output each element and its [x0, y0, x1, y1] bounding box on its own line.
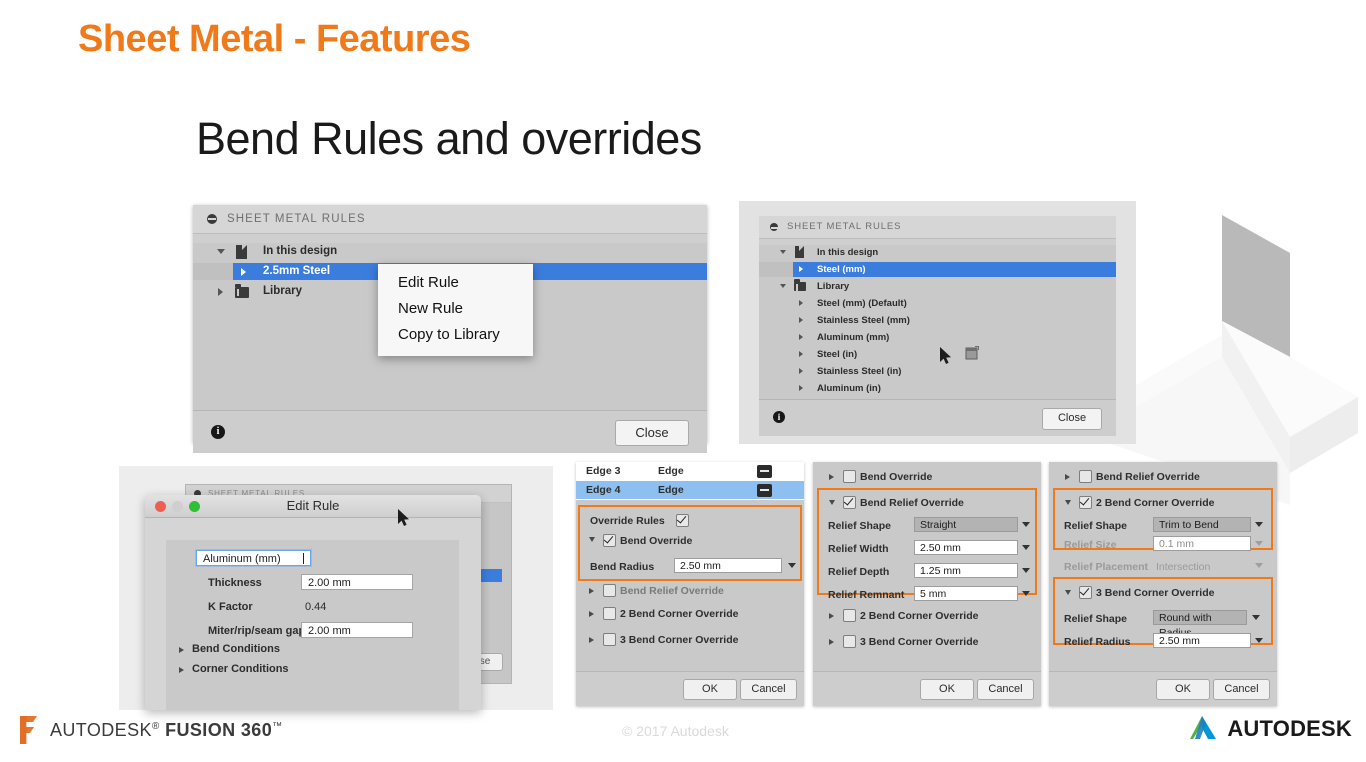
relief-shape-label: Relief Shape — [1064, 520, 1127, 532]
chevron-right-icon[interactable] — [589, 637, 594, 643]
chevron-down-icon[interactable] — [1065, 500, 1071, 505]
ok-button[interactable]: OK — [1156, 679, 1210, 700]
window-menu-icon — [207, 214, 217, 224]
panel-corner-overrides[interactable]: Bend Relief Override 2 Bend Corner Overr… — [1049, 462, 1277, 706]
relief-shape-select[interactable]: Trim to Bend — [1153, 517, 1251, 532]
tree-item-steel-in[interactable]: Steel (in) — [759, 347, 1116, 362]
bend-radius-label: Bend Radius — [590, 561, 654, 573]
tree-label: Stainless Steel (mm) — [817, 315, 910, 326]
traffic-light-close[interactable] — [155, 501, 166, 512]
chevron-right-icon[interactable] — [799, 368, 803, 374]
chevron-right-icon[interactable] — [218, 288, 223, 296]
tree-item-steel-mm-default[interactable]: Steel (mm) (Default) — [759, 296, 1116, 311]
two-bend-corner-override-checkbox[interactable] — [1079, 496, 1092, 509]
dialog-1-title: SHEET METAL RULES — [227, 213, 366, 225]
chevron-down-icon[interactable] — [780, 284, 786, 288]
chevron-right-icon[interactable] — [589, 611, 594, 617]
edge-name: Edge 3 — [586, 465, 620, 477]
cancel-button[interactable]: Cancel — [1213, 679, 1270, 700]
tree-item-library[interactable]: Library — [759, 279, 1116, 294]
bend-relief-override-label[interactable]: Bend Relief Override — [620, 585, 724, 597]
tree-label: Aluminum (in) — [817, 383, 881, 394]
document-icon — [795, 246, 804, 258]
dialog-2-body: In this design Steel (mm) Library Steel … — [759, 245, 1116, 399]
chevron-right-icon[interactable] — [1065, 474, 1070, 480]
tree-label: In this design — [817, 247, 878, 258]
bend-override-checkbox[interactable] — [843, 470, 856, 483]
bend-relief-override-checkbox[interactable] — [603, 584, 616, 597]
tree-item-in-this-design[interactable]: In this design — [759, 245, 1116, 260]
tree-item-steel-mm[interactable]: Steel (mm) — [759, 262, 1116, 277]
two-bend-corner-override-checkbox[interactable] — [603, 607, 616, 620]
three-bend-corner-override-label[interactable]: 3 Bend Corner Override — [860, 636, 978, 648]
dropdown-arrow-icon[interactable] — [1255, 638, 1263, 643]
edge-type: Edge — [658, 484, 684, 496]
chevron-down-icon[interactable] — [1065, 590, 1071, 595]
relief-remnant-label: Relief Remnant — [828, 589, 904, 601]
tree-label: Steel (mm) — [817, 264, 866, 275]
k-factor-label: K Factor — [208, 601, 253, 613]
three-bend-corner-override-label[interactable]: 3 Bend Corner Override — [620, 634, 738, 646]
fusion-f-icon — [18, 716, 41, 744]
chevron-down-icon[interactable] — [780, 250, 786, 254]
bend-relief-override-label[interactable]: Bend Relief Override — [1096, 471, 1200, 483]
menu-item-new-rule[interactable]: New Rule — [378, 296, 533, 322]
three-bend-corner-override-checkbox[interactable] — [1079, 586, 1092, 599]
info-icon[interactable]: i — [773, 411, 785, 423]
sheet-metal-rules-dialog-2[interactable]: SHEET METAL RULES In this design Steel (… — [759, 216, 1116, 428]
dropdown-arrow-icon[interactable] — [1255, 541, 1263, 546]
chevron-right-icon[interactable] — [829, 639, 834, 645]
info-icon[interactable]: i — [211, 425, 225, 439]
panel-b-body: Bend Override Bend Relief Override Relie… — [813, 462, 1041, 672]
three-bend-corner-override-checkbox[interactable] — [843, 635, 856, 648]
bend-conditions-section[interactable]: Bend Conditions — [192, 643, 280, 655]
slide-footer: AUTODESK® FUSION 360™ © 2017 Autodesk AU… — [0, 702, 1366, 762]
mouse-cursor-icon — [939, 347, 953, 365]
context-menu[interactable]: Edit Rule New Rule Copy to Library — [378, 264, 533, 356]
mouse-cursor-icon — [397, 509, 411, 527]
tree-label: Steel (in) — [817, 349, 857, 360]
chevron-right-icon[interactable] — [799, 351, 803, 357]
edit-rule-body: Aluminum (mm) Thickness 2.00 mm K Factor… — [166, 540, 459, 710]
dialog-2-titlebar: SHEET METAL RULES — [759, 216, 1116, 239]
edit-rule-titlebar: Edit Rule — [145, 495, 481, 518]
dropdown-arrow-icon[interactable] — [1252, 615, 1260, 620]
override-rules-label: Override Rules — [590, 515, 665, 527]
bend-relief-override-checkbox[interactable] — [843, 496, 856, 509]
folder-icon — [794, 282, 806, 291]
window-menu-icon — [770, 223, 778, 231]
relief-shape-select[interactable]: Straight — [914, 517, 1018, 532]
tree-label: In this design — [263, 245, 337, 257]
edit-rule-title: Edit Rule — [287, 498, 340, 513]
ok-button[interactable]: OK — [920, 679, 974, 700]
chevron-right-icon[interactable] — [241, 268, 246, 276]
fusion-360-logo: AUTODESK® FUSION 360™ — [18, 716, 283, 744]
traffic-light-minimize[interactable] — [172, 501, 183, 512]
edge-name: Edge 4 — [586, 484, 620, 496]
remove-edge-icon[interactable] — [757, 465, 772, 478]
relief-remnant-input[interactable]: 5 mm — [914, 586, 1018, 601]
bend-relief-override-checkbox[interactable] — [1079, 470, 1092, 483]
chevron-right-icon[interactable] — [799, 317, 803, 323]
chevron-right-icon[interactable] — [179, 667, 184, 673]
bend-radius-input[interactable]: 2.50 mm — [674, 558, 782, 573]
slide-title: Sheet Metal - Features — [78, 18, 470, 61]
dialog-1-footer: i Close — [193, 410, 707, 453]
chevron-right-icon[interactable] — [799, 266, 803, 272]
row-gutter — [759, 262, 793, 277]
relief-width-input[interactable]: 2.50 mm — [914, 540, 1018, 555]
k-factor-value: 0.44 — [305, 601, 326, 613]
autodesk-logo: AUTODESK — [1189, 715, 1352, 742]
override-rules-checkbox[interactable] — [676, 514, 689, 527]
bend-override-label[interactable]: Bend Override — [620, 535, 692, 547]
relief-placement-value: Intersection — [1156, 561, 1210, 573]
tree-item-stainless-steel-mm[interactable]: Stainless Steel (mm) — [759, 313, 1116, 328]
menu-item-copy-to-library[interactable]: Copy to Library — [378, 322, 533, 348]
miter-rip-seam-gap-label: Miter/rip/seam gap — [208, 625, 305, 637]
copy-rule-icon[interactable] — [965, 345, 981, 361]
document-icon — [236, 245, 247, 259]
thickness-label: Thickness — [208, 577, 262, 589]
tree-label: Library — [817, 281, 849, 292]
relief-shape-label-3: Relief Shape — [1064, 613, 1127, 625]
fusion-word: FUSION 360 — [165, 720, 272, 740]
edge-type: Edge — [658, 465, 684, 477]
chevron-right-icon[interactable] — [799, 385, 803, 391]
traffic-light-zoom[interactable] — [189, 501, 200, 512]
two-bend-corner-override-checkbox[interactable] — [843, 609, 856, 622]
relief-placement-label: Relief Placement — [1064, 561, 1148, 573]
tree-label: 2.5mm Steel — [263, 265, 330, 277]
dropdown-arrow-icon[interactable] — [788, 563, 796, 568]
miter-rip-seam-gap-input[interactable]: 2.00 mm — [301, 622, 413, 638]
relief-depth-label: Relief Depth — [828, 566, 889, 578]
tree-item-stainless-steel-in[interactable]: Stainless Steel (in) — [759, 364, 1116, 379]
menu-item-edit-rule[interactable]: Edit Rule — [378, 270, 533, 296]
panel-bend-relief-override[interactable]: Bend Override Bend Relief Override Relie… — [813, 462, 1041, 706]
two-bend-corner-override-label[interactable]: 2 Bend Corner Override — [1096, 497, 1214, 509]
dialog-1-titlebar: SHEET METAL RULES — [193, 205, 707, 234]
chevron-down-icon[interactable] — [829, 500, 835, 505]
tree-item-aluminum-in[interactable]: Aluminum (in) — [759, 381, 1116, 396]
panel-c-body: Bend Relief Override 2 Bend Corner Overr… — [1049, 462, 1277, 672]
chevron-right-icon[interactable] — [799, 334, 803, 340]
chevron-right-icon[interactable] — [829, 613, 834, 619]
dialog-2-title: SHEET METAL RULES — [787, 221, 901, 232]
relief-radius-input[interactable]: 2.50 mm — [1153, 633, 1251, 648]
panel-bend-override[interactable]: Edge 3 Edge Edge 4 Edge Override Rules B… — [576, 462, 804, 706]
relief-shape-select-3[interactable]: Round with Radius — [1153, 610, 1247, 625]
bend-relief-override-label[interactable]: Bend Relief Override — [860, 497, 964, 509]
relief-size-input[interactable]: 0.1 mm — [1153, 536, 1251, 551]
row-gutter — [193, 263, 233, 280]
bend-override-checkbox[interactable] — [603, 534, 616, 547]
edge-row-4[interactable]: Edge 4 Edge — [576, 481, 804, 499]
tree-item-aluminum-mm[interactable]: Aluminum (mm) — [759, 330, 1116, 345]
three-bend-corner-override-label[interactable]: 3 Bend Corner Override — [1096, 587, 1214, 599]
chevron-right-icon[interactable] — [799, 300, 803, 306]
chevron-right-icon[interactable] — [829, 474, 834, 480]
dropdown-arrow-icon[interactable] — [1022, 545, 1030, 550]
tree-label: Aluminum (mm) — [817, 332, 889, 343]
close-button-1[interactable]: Close — [615, 420, 689, 446]
relief-radius-label: Relief Radius — [1064, 636, 1131, 648]
fusion-360-wordmark: AUTODESK® FUSION 360™ — [50, 720, 283, 741]
panel-b-footer: OK Cancel — [813, 671, 1041, 706]
chevron-right-icon[interactable] — [589, 588, 594, 594]
relief-shape-label: Relief Shape — [828, 520, 891, 532]
three-bend-corner-override-checkbox[interactable] — [603, 633, 616, 646]
remove-edge-icon[interactable] — [757, 484, 772, 497]
relief-size-label: Relief Size — [1064, 539, 1117, 551]
relief-depth-input[interactable]: 1.25 mm — [914, 563, 1018, 578]
autodesk-word: AUTODESK — [50, 720, 152, 740]
edge-list[interactable]: Edge 3 Edge Edge 4 Edge — [576, 462, 804, 500]
edge-row-3[interactable]: Edge 3 Edge — [576, 462, 804, 480]
dropdown-arrow-icon[interactable] — [1255, 563, 1263, 568]
panel-a-body: Edge 3 Edge Edge 4 Edge Override Rules B… — [576, 462, 804, 672]
slide-subtitle: Bend Rules and overrides — [196, 113, 702, 165]
folder-icon — [235, 287, 249, 298]
copyright-text: © 2017 Autodesk — [622, 723, 729, 739]
thickness-input[interactable]: 2.00 mm — [301, 574, 413, 590]
autodesk-a-icon — [1189, 715, 1219, 742]
bend-override-label[interactable]: Bend Override — [860, 471, 932, 483]
panel-c-footer: OK Cancel — [1049, 671, 1277, 706]
tree-label: Library — [263, 285, 302, 297]
two-bend-corner-override-label[interactable]: 2 Bend Corner Override — [860, 610, 978, 622]
dropdown-arrow-icon[interactable] — [1022, 591, 1030, 596]
text-caret — [303, 553, 304, 564]
ok-button[interactable]: OK — [683, 679, 737, 700]
cancel-button[interactable]: Cancel — [740, 679, 797, 700]
chevron-down-icon[interactable] — [589, 537, 595, 542]
rule-name-input[interactable]: Aluminum (mm) — [196, 550, 311, 566]
dropdown-arrow-icon[interactable] — [1022, 568, 1030, 573]
panel-a-footer: OK Cancel — [576, 671, 804, 706]
dropdown-arrow-icon[interactable] — [1255, 522, 1263, 527]
tree-label: Steel (mm) (Default) — [817, 298, 907, 309]
chevron-down-icon[interactable] — [217, 249, 225, 254]
close-button-2[interactable]: Close — [1042, 408, 1102, 430]
corner-conditions-section[interactable]: Corner Conditions — [192, 663, 289, 675]
autodesk-wordmark: AUTODESK — [1227, 716, 1352, 742]
tree-item-in-this-design[interactable]: In this design — [193, 243, 707, 260]
relief-width-label: Relief Width — [828, 543, 889, 555]
tree-label: Stainless Steel (in) — [817, 366, 901, 377]
dropdown-arrow-icon[interactable] — [1022, 522, 1030, 527]
dialog-2-footer: i Close — [759, 399, 1116, 436]
chevron-right-icon[interactable] — [179, 647, 184, 653]
cancel-button[interactable]: Cancel — [977, 679, 1034, 700]
edit-rule-window[interactable]: Edit Rule Aluminum (mm) Thickness 2.00 m… — [145, 495, 481, 710]
two-bend-corner-override-label[interactable]: 2 Bend Corner Override — [620, 608, 738, 620]
